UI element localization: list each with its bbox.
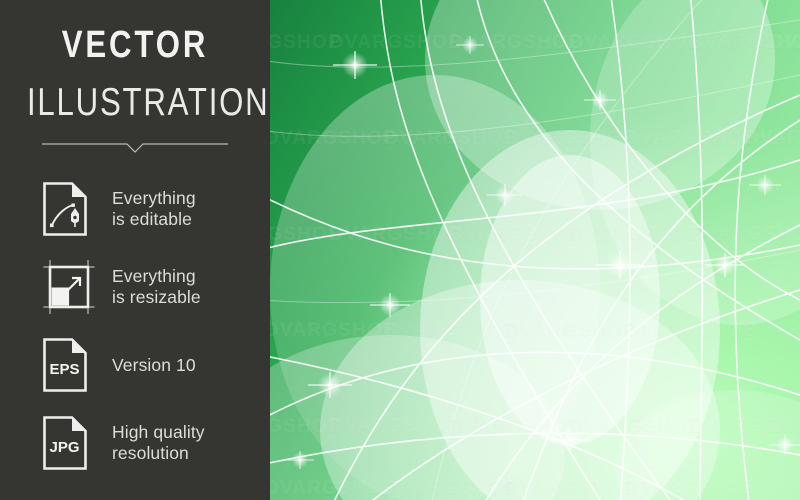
page-title-primary: VECTOR [24, 26, 245, 64]
eps-file-icon-label: EPS [49, 361, 79, 378]
divider [42, 140, 228, 154]
artwork-area: DVARGSHOPDVARGSHOPDVARGSHOPDVARGSHOPDVAR… [270, 0, 800, 500]
feature-label: Everything is editable [112, 188, 196, 230]
feature-item-resizable: Everything is resizable [42, 248, 270, 326]
feature-label: High quality resolution [112, 422, 205, 464]
feature-label: Version 10 [112, 355, 196, 376]
feature-item-editable: Everything is editable [42, 170, 270, 248]
abstract-shapes-layer [270, 0, 800, 500]
page-title-secondary: ILLUSTRATION [27, 83, 243, 122]
feature-label: Everything is resizable [112, 266, 201, 308]
sidebar-panel: VECTOR ILLUSTRATION [0, 0, 270, 500]
feature-item-version: EPS Version 10 [42, 326, 270, 404]
feature-item-resolution: JPG High quality resolution [42, 404, 270, 482]
divider-notch-icon [42, 140, 228, 154]
eps-file-icon: EPS [42, 336, 98, 394]
feature-list: Everything is editable [0, 170, 270, 482]
jpg-file-icon-label: JPG [49, 439, 79, 456]
title-block: VECTOR ILLUSTRATION [0, 0, 270, 122]
illustration-preview-canvas: VECTOR ILLUSTRATION [0, 0, 800, 500]
resize-crop-arrow-icon [42, 258, 98, 316]
document-pen-tool-icon [42, 180, 98, 238]
jpg-file-icon: JPG [42, 414, 98, 472]
